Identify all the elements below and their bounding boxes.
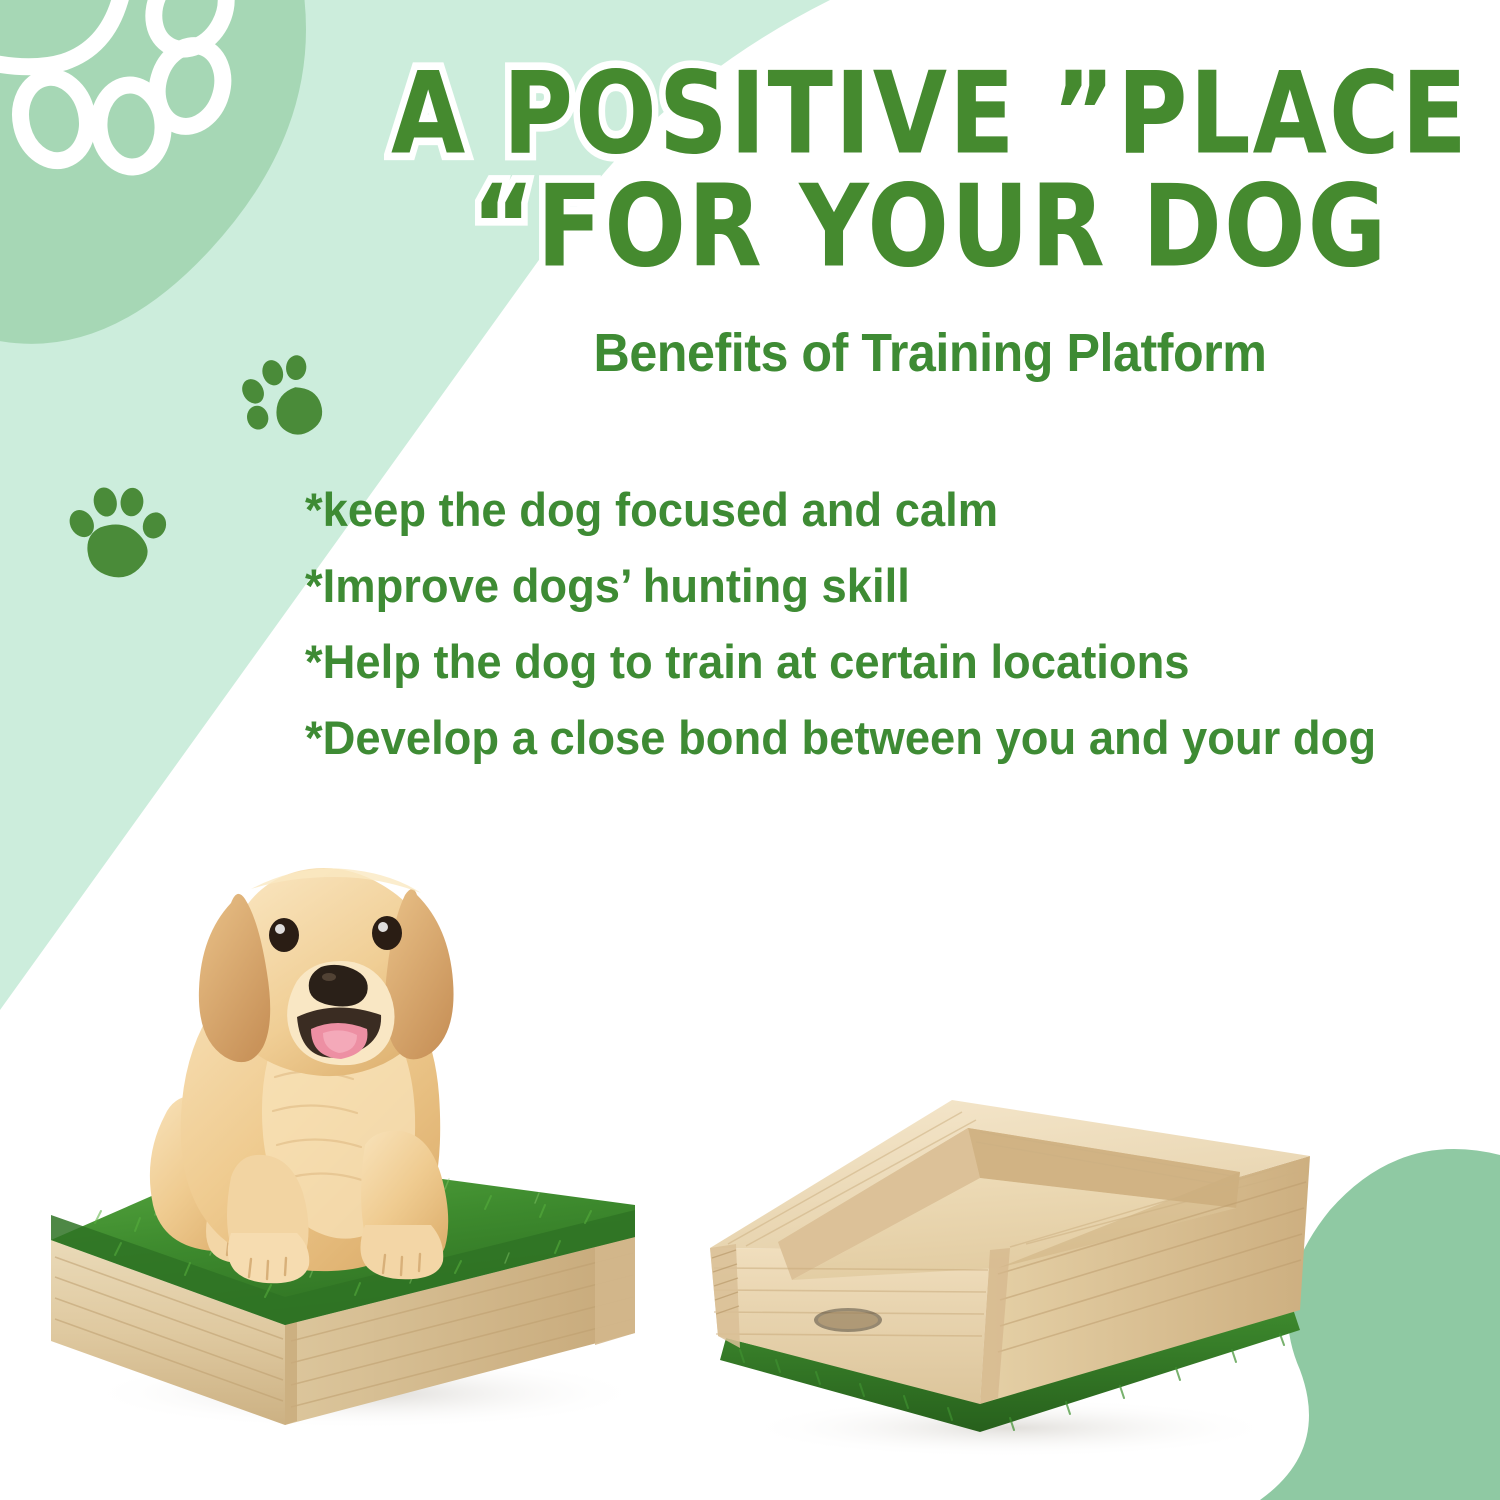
benefits-list: *keep the dog focused and calm *Improve … <box>305 486 1495 790</box>
paw-print-outline-icon <box>0 0 244 196</box>
product-infographic-canvas: A POSITIVE ”PLACE “FOR YOUR DOG Benefits… <box>0 0 1500 1500</box>
wooden-training-platform-inverted <box>680 1000 1340 1470</box>
benefit-item: *Develop a close bond between you and yo… <box>305 714 1453 761</box>
headline-line-2: “FOR YOUR DOG <box>380 171 1480 283</box>
paw-print-icon <box>66 478 172 588</box>
subtitle: Benefits of Training Platform <box>419 322 1442 384</box>
headline: A POSITIVE ”PLACE “FOR YOUR DOG <box>380 58 1480 266</box>
benefit-item: *keep the dog focused and calm <box>305 486 1453 533</box>
headline-line-1: A POSITIVE ”PLACE <box>380 58 1480 170</box>
benefit-item: *Improve dogs’ hunting skill <box>305 562 1453 609</box>
benefit-item: *Help the dog to train at certain locati… <box>305 638 1453 685</box>
golden-retriever-puppy-on-grass-training-platform <box>35 785 675 1445</box>
paw-print-icon <box>238 352 330 448</box>
